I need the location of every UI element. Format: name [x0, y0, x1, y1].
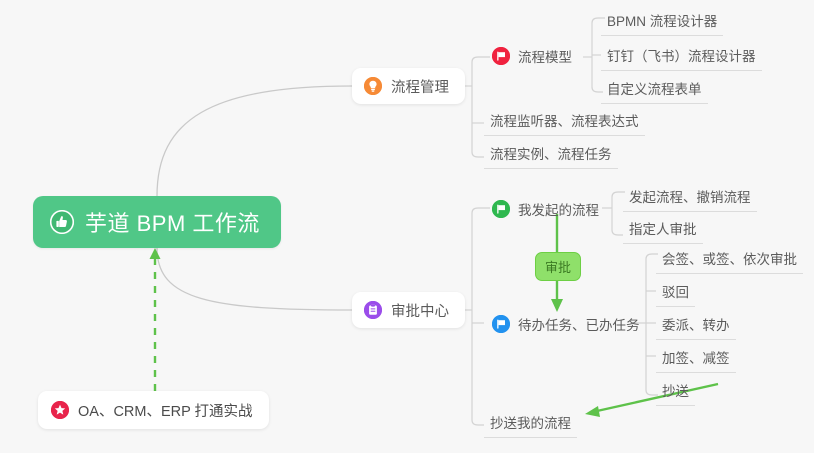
- node-label-my-initiated: 我发起的流程: [518, 199, 599, 219]
- dashed-arrow-line: [150, 248, 161, 391]
- branch-node-approval-center[interactable]: 审批中心: [352, 292, 465, 328]
- leaf-reject[interactable]: 驳回: [656, 279, 695, 307]
- leaf-bpmn-designer[interactable]: BPMN 流程设计器: [601, 8, 723, 36]
- star-icon: [51, 401, 69, 419]
- leaf-delegate[interactable]: 委派、转办: [656, 312, 736, 340]
- node-label-process-model: 流程模型: [518, 46, 572, 66]
- leaf-custom-form[interactable]: 自定义流程表单: [601, 76, 708, 104]
- leaf-dingtalk-designer[interactable]: 钉钉（飞书）流程设计器: [601, 43, 762, 71]
- node-my-initiated[interactable]: 我发起的流程: [492, 199, 599, 219]
- cc-flow-arrow: [585, 384, 718, 417]
- branch-node-process-management[interactable]: 流程管理: [352, 68, 465, 104]
- lightbulb-icon: [364, 77, 382, 95]
- root-node[interactable]: 芋道 BPM 工作流: [33, 196, 281, 248]
- root-label: 芋道 BPM 工作流: [85, 206, 260, 238]
- leaf-start-cancel[interactable]: 发起流程、撤销流程: [623, 184, 757, 212]
- leaf-cc-to-me[interactable]: 抄送我的流程: [484, 410, 577, 438]
- node-todo-done[interactable]: 待办任务、已办任务: [492, 314, 640, 334]
- callout-label: OA、CRM、ERP 打通实战: [78, 400, 253, 421]
- node-label-todo-done: 待办任务、已办任务: [518, 314, 640, 334]
- flag-icon-green: [492, 200, 510, 218]
- branch-label-approval-center: 审批中心: [391, 300, 449, 321]
- leaf-multi-sign[interactable]: 会签、或签、依次审批: [656, 246, 803, 274]
- mindmap-canvas: 芋道 BPM 工作流 OA、CRM、ERP 打通实战 流程管理: [0, 0, 814, 453]
- leaf-cc[interactable]: 抄送: [656, 378, 695, 406]
- flag-icon-blue: [492, 315, 510, 333]
- leaf-process-instance[interactable]: 流程实例、流程任务: [484, 141, 618, 169]
- leaf-add-remove-sign[interactable]: 加签、减签: [656, 345, 736, 373]
- annotation-pill-approval: 审批: [535, 252, 581, 281]
- leaf-process-listener[interactable]: 流程监听器、流程表达式: [484, 108, 645, 136]
- node-process-model[interactable]: 流程模型: [492, 46, 572, 66]
- clipboard-icon: [364, 301, 382, 319]
- leaf-assignee-approval[interactable]: 指定人审批: [623, 216, 703, 244]
- branch-label-process-management: 流程管理: [391, 76, 449, 97]
- flag-icon-red: [492, 47, 510, 65]
- callout-node-oa-crm-erp[interactable]: OA、CRM、ERP 打通实战: [38, 391, 269, 429]
- thumbs-up-icon: [50, 210, 74, 234]
